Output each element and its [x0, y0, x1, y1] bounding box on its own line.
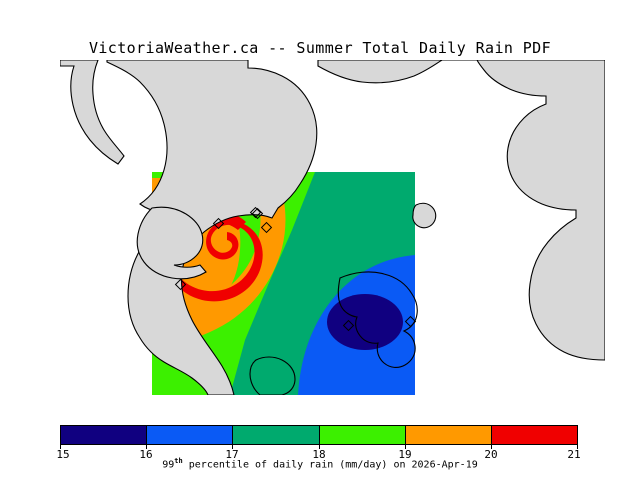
map-canvas[interactable] [60, 60, 605, 395]
colorbar-bands[interactable] [60, 425, 578, 445]
caption-prefix: 99 [162, 459, 174, 470]
colorbar-band-16-17[interactable] [147, 426, 233, 444]
colorbar-band-19-20[interactable] [406, 426, 492, 444]
colorbar-band-15-16[interactable] [61, 426, 147, 444]
contour-band-15-16 [327, 294, 403, 350]
colorbar-caption: 99th percentile of daily rain (mm/day) o… [0, 457, 640, 470]
caption-superscript: th [174, 457, 182, 465]
caption-rest: percentile of daily rain (mm/day) on 202… [183, 459, 478, 470]
colorbar-band-17-18[interactable] [233, 426, 319, 444]
page-title: VictoriaWeather.ca -- Summer Total Daily… [0, 39, 640, 57]
map-svg [60, 60, 605, 395]
colorbar-band-20-21[interactable] [492, 426, 577, 444]
island-right-coast [413, 203, 436, 228]
colorbar[interactable]: 15 16 17 18 19 20 21 [60, 425, 578, 445]
colorbar-band-18-19[interactable] [320, 426, 406, 444]
weather-map-figure: VictoriaWeather.ca -- Summer Total Daily… [0, 0, 640, 480]
